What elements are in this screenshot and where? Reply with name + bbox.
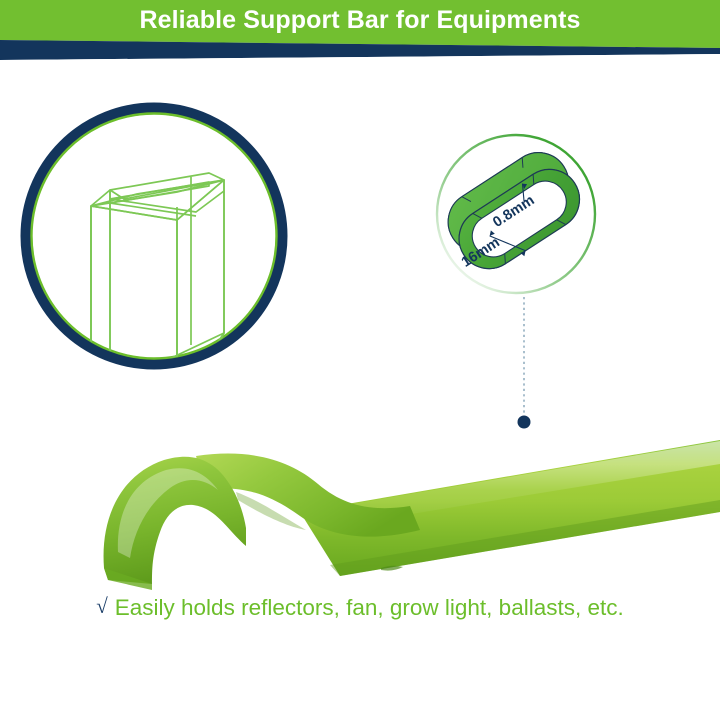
page-title: Reliable Support Bar for Equipments xyxy=(0,5,720,35)
tagline-text: Easily holds reflectors, fan, grow light… xyxy=(115,597,624,620)
product-feature-image: Reliable Support Bar for Equipments xyxy=(0,0,720,720)
cross-section-leader xyxy=(518,297,531,429)
leader-anchor-dot xyxy=(518,416,531,429)
header-banner: Reliable Support Bar for Equipments xyxy=(0,0,720,60)
illustration-canvas: 0.8mm 16mm xyxy=(0,60,720,620)
grow-tent-inset xyxy=(26,108,282,406)
illustration-area: 0.8mm 16mm xyxy=(0,60,720,620)
tent-inset-face xyxy=(33,115,275,357)
green-support-bar xyxy=(104,440,720,590)
tagline-row: √ Easily holds reflectors, fan, grow lig… xyxy=(0,588,720,628)
cross-section-inset: 0.8mm 16mm xyxy=(437,135,595,293)
checkmark-icon: √ xyxy=(96,596,108,617)
